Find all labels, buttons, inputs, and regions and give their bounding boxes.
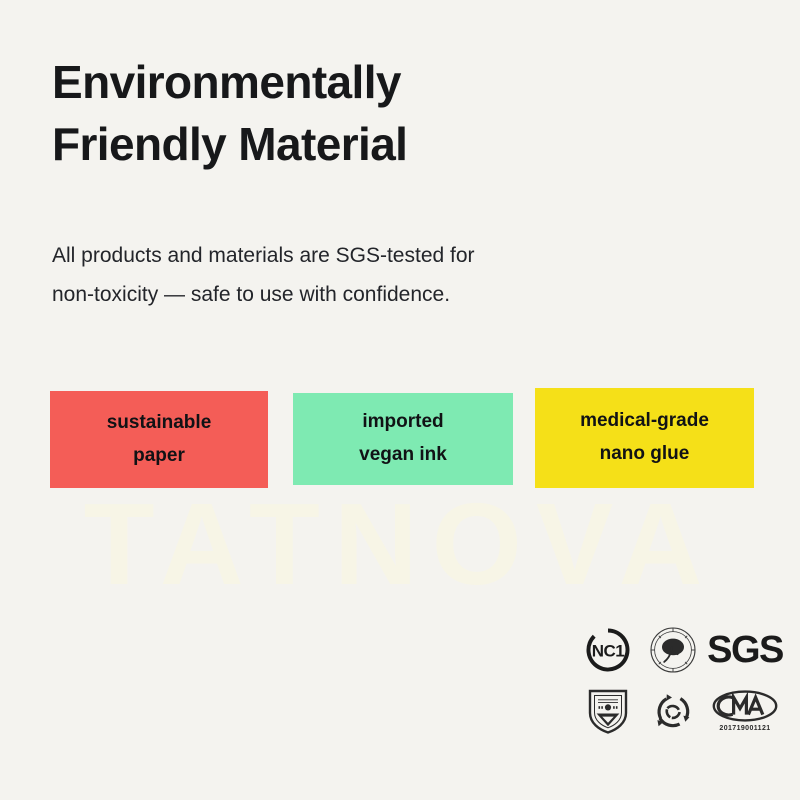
body-copy-line-2: non-toxicity — safe to use with confiden… xyxy=(52,275,692,314)
tag-imported-vegan-ink-line-1: imported xyxy=(362,406,443,439)
tag-medical-grade-nano-glue: medical-grade nano glue xyxy=(535,388,754,488)
cma-certificate-number: 201719001121 xyxy=(719,725,770,732)
tag-medical-grade-nano-glue-line-2: nano glue xyxy=(600,438,690,471)
tag-medical-grade-nano-glue-line-1: medical-grade xyxy=(580,405,709,438)
tag-imported-vegan-ink: imported vegan ink xyxy=(293,393,513,485)
brand-watermark: TATNOVA xyxy=(0,486,800,602)
shield-icon xyxy=(576,680,640,742)
material-tag-group: sustainable paper imported vegan ink med… xyxy=(50,388,762,492)
tag-imported-vegan-ink-line-2: vegan ink xyxy=(359,439,447,472)
sgs-label: SGS xyxy=(707,631,783,669)
svg-text:NC1: NC1 xyxy=(592,642,625,661)
page-title-line-1: Environmentally xyxy=(52,52,752,114)
tag-sustainable-paper-line-1: sustainable xyxy=(107,407,212,440)
certification-badge-group: NC1 xyxy=(576,620,784,748)
body-copy-line-1: All products and materials are SGS-teste… xyxy=(52,236,692,275)
recycle-icon xyxy=(640,680,706,742)
tag-sustainable-paper: sustainable paper xyxy=(50,391,268,488)
cma-icon: 201719001121 xyxy=(706,680,784,742)
page-title-line-2: Friendly Material xyxy=(52,114,752,176)
nc1-icon: NC1 xyxy=(576,620,640,680)
page-title: Environmentally Friendly Material xyxy=(52,52,752,175)
forest-seal-icon xyxy=(640,620,706,680)
tag-sustainable-paper-line-2: paper xyxy=(133,440,185,473)
body-copy: All products and materials are SGS-teste… xyxy=(52,236,692,315)
poster-canvas: TATNOVA Environmentally Friendly Materia… xyxy=(0,0,800,800)
sgs-icon: SGS xyxy=(706,620,784,680)
